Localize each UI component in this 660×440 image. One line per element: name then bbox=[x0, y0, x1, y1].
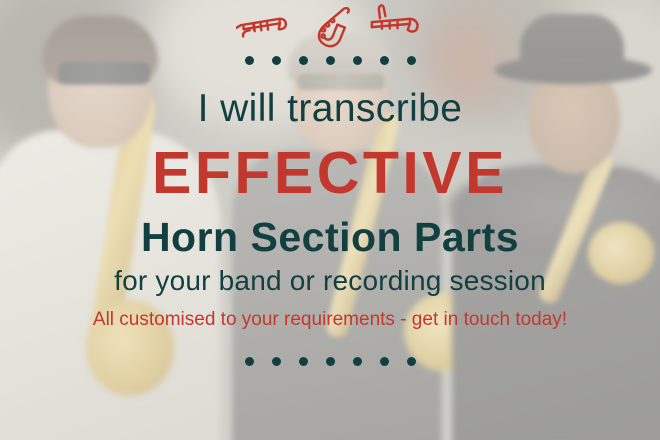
headline-small: I will transcribe bbox=[198, 89, 463, 128]
trombone-icon bbox=[368, 2, 424, 52]
headline-subject: Horn Section Parts bbox=[141, 217, 519, 258]
dot bbox=[299, 357, 308, 366]
saxophone-icon bbox=[306, 2, 354, 52]
dot bbox=[299, 56, 308, 65]
subtitle: for your band or recording session bbox=[114, 267, 546, 295]
poster-content: I will transcribe EFFECTIVE Horn Section… bbox=[0, 0, 660, 440]
dot bbox=[245, 357, 254, 366]
dot bbox=[353, 56, 362, 65]
trumpet-icon bbox=[236, 2, 292, 50]
dot bbox=[326, 357, 335, 366]
dot-divider-top bbox=[245, 56, 416, 65]
dot-divider-bottom bbox=[245, 357, 416, 366]
dot bbox=[380, 357, 389, 366]
poster: I will transcribe EFFECTIVE Horn Section… bbox=[0, 0, 660, 440]
dot bbox=[407, 357, 416, 366]
instrument-icon-row bbox=[236, 2, 424, 52]
dot bbox=[272, 357, 281, 366]
dot bbox=[380, 56, 389, 65]
dot bbox=[272, 56, 281, 65]
dot bbox=[326, 56, 335, 65]
dot bbox=[245, 56, 254, 65]
tagline: All customised to your requirements - ge… bbox=[93, 310, 567, 329]
dot bbox=[407, 56, 416, 65]
headline-big: EFFECTIVE bbox=[152, 144, 508, 203]
dot bbox=[353, 357, 362, 366]
